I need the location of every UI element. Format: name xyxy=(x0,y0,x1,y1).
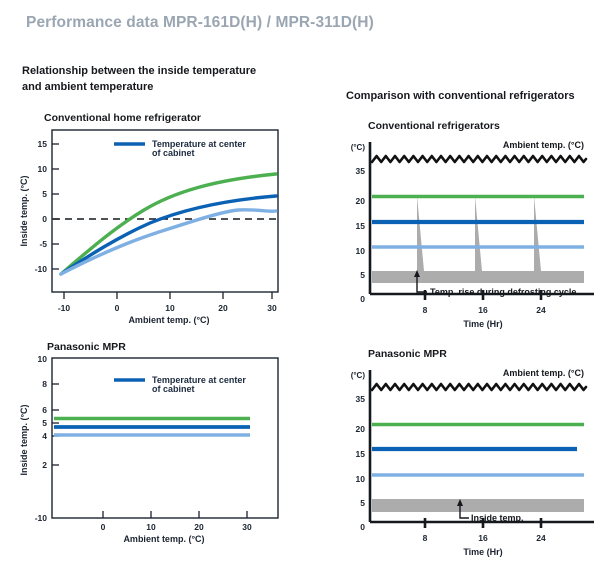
x-tick-label: 16 xyxy=(478,305,488,315)
x-tick-label: 0 xyxy=(101,522,106,532)
y-tick-label: 35 xyxy=(356,166,366,176)
y-tick-label: 0 xyxy=(42,214,47,224)
y-tick-label: 6 xyxy=(42,405,47,415)
legend-label-line2: of cabinet xyxy=(152,384,195,394)
y-axis-title: Inside temp. (°C) xyxy=(19,404,29,475)
y-tick-label: 8 xyxy=(42,379,47,389)
x-tick-label: 24 xyxy=(536,533,546,543)
x-tick-label: 0 xyxy=(115,303,120,313)
legend-label-line2: of cabinet xyxy=(152,148,195,158)
x-axis-title: Time (Hr) xyxy=(463,319,502,329)
x-tick-label: 10 xyxy=(146,522,156,532)
y-axis-title: Inside temp. (°C) xyxy=(19,175,29,246)
x-tick-label: 16 xyxy=(478,533,488,543)
y-tick-label: 5 xyxy=(42,189,47,199)
y-tick-label: 15 xyxy=(38,139,48,149)
x-tick-label: 8 xyxy=(423,305,428,315)
section-heading-left: Relationship between the inside temperat… xyxy=(22,63,256,95)
ambient-temp-waveform xyxy=(372,384,586,390)
x-tick-label: 30 xyxy=(267,303,277,313)
y-axis-unit-label: (°C) xyxy=(351,143,366,152)
x-tick-label: 24 xyxy=(536,305,546,315)
x-tick-label: 10 xyxy=(165,303,175,313)
defrost-annotation-label: Temp. rise during defrosting cycle xyxy=(430,287,576,297)
y-tick-label: 5 xyxy=(360,270,365,280)
y-tick-label: -5 xyxy=(39,239,47,249)
y-tick-label: -10 xyxy=(35,264,48,274)
x-tick-label: 8 xyxy=(423,533,428,543)
ambient-temp-label: Ambient temp. (°C) xyxy=(503,368,584,378)
y-tick-label: 35 xyxy=(356,394,366,404)
chart-panasonic-mpr-ambient: 10 8 6 5 4 2 -10 Temperature at center o… xyxy=(14,348,289,553)
inside-temp-band-with-defrost-spikes xyxy=(372,196,584,283)
y-tick-label: 4 xyxy=(42,431,47,441)
y-tick-label: 2 xyxy=(42,460,47,470)
chart-title-panasonic-mpr-time: Panasonic MPR xyxy=(368,348,447,360)
inside-temp-annotation-label: Inside temp. xyxy=(471,513,524,523)
y-tick-label: 15 xyxy=(356,449,366,459)
y-tick-label: 0 xyxy=(360,294,365,304)
y-tick-label: 15 xyxy=(356,221,366,231)
y-tick-label: 10 xyxy=(356,474,366,484)
chart-panasonic-mpr-time: (°C) 35 20 15 10 5 0 Ambient temp. (°C) … xyxy=(332,360,616,560)
section-heading-right: Comparison with conventional refrigerato… xyxy=(346,88,575,104)
chart-conventional-home-refrigerator: 15 10 5 0 -5 -10 Temperature at center o… xyxy=(14,124,289,324)
performance-data-page: Performance data MPR-161D(H) / MPR-311D(… xyxy=(0,0,616,563)
y-tick-label: 5 xyxy=(360,498,365,508)
ambient-temp-label: Ambient temp. (°C) xyxy=(503,140,584,150)
y-tick-label: 10 xyxy=(356,246,366,256)
x-tick-label: 30 xyxy=(242,522,252,532)
inside-temp-band xyxy=(372,499,584,512)
x-axis-title: Time (Hr) xyxy=(463,547,502,557)
y-axis-unit-label: (°C) xyxy=(351,371,366,380)
y-tick-label: 10 xyxy=(38,164,48,174)
chart-conventional-refrigerators-time: (°C) 35 20 15 10 5 0 Ambient temp. (°C) xyxy=(332,132,616,332)
chart-title-conventional-refrigerators: Conventional refrigerators xyxy=(368,120,500,132)
x-tick-label: 20 xyxy=(218,303,228,313)
y-tick-label: -10 xyxy=(35,513,48,523)
y-tick-label: 10 xyxy=(38,354,48,364)
y-tick-label: 5 xyxy=(42,418,47,428)
x-tick-label: -10 xyxy=(58,303,71,313)
x-tick-label: 20 xyxy=(194,522,204,532)
y-tick-label: 20 xyxy=(356,196,366,206)
x-axis-title: Ambient temp. (°C) xyxy=(123,534,204,544)
y-tick-label: 20 xyxy=(356,424,366,434)
chart-title-conventional-home-refrigerator: Conventional home refrigerator xyxy=(44,112,201,124)
page-title: Performance data MPR-161D(H) / MPR-311D(… xyxy=(26,14,374,32)
x-axis-title: Ambient temp. (°C) xyxy=(128,315,209,325)
x-axis-ticks xyxy=(64,292,272,299)
ambient-temp-waveform xyxy=(372,156,586,162)
y-tick-label: 0 xyxy=(360,522,365,532)
